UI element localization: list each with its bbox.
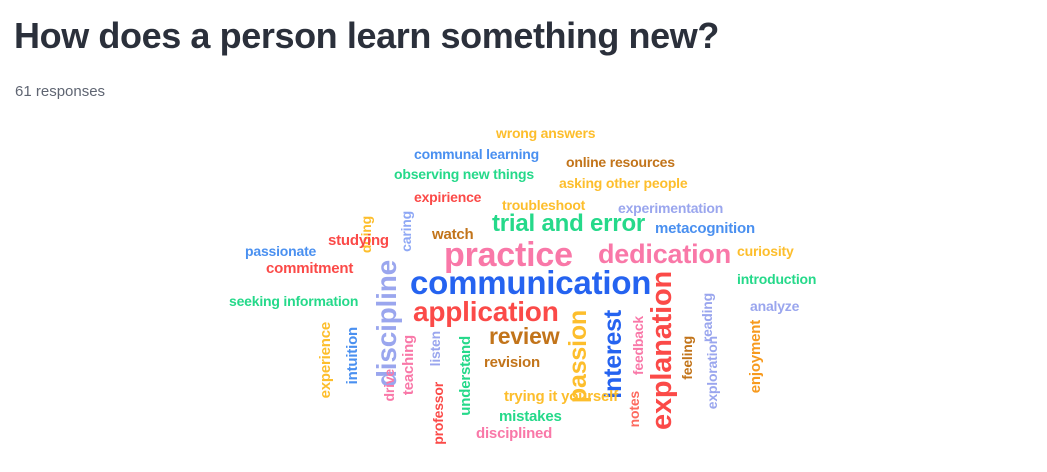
word-cloud-term: mistakes [499,409,562,424]
word-cloud-term: disciplined [476,426,552,441]
word-cloud-term: teaching [401,335,416,395]
word-cloud-term: trial and error [492,212,645,236]
word-cloud-term: introduction [737,272,816,286]
page-title: How does a person learn something new? [14,14,719,58]
word-cloud-term: communication [410,266,651,299]
word-cloud-term: interest [601,310,626,399]
word-cloud-term: exploration [705,336,719,409]
word-cloud-term: curiosity [737,244,794,258]
word-cloud-term: metacognition [655,221,755,236]
word-cloud-term: seeking information [229,294,358,308]
word-cloud-term: expirience [414,190,481,204]
word-cloud-term: drive [382,369,396,401]
word-cloud-term: asking other people [559,176,687,190]
word-cloud-term: feeling [680,336,694,380]
word-cloud-term: enjoyment [748,320,763,393]
word-cloud: wrong answerscommunal learningonline res… [0,108,1047,472]
word-cloud-term: communal learning [414,147,539,161]
word-cloud-term: feedback [631,316,645,375]
word-cloud-term: revision [484,355,540,370]
word-cloud-term: observing new things [394,167,534,181]
word-cloud-term: application [413,298,559,326]
word-cloud-term: reading [700,293,714,342]
word-cloud-term: notes [627,391,641,427]
word-cloud-term: studying [328,233,389,248]
word-cloud-term: explanation [648,271,677,430]
word-cloud-term: listen [428,331,442,366]
word-cloud-term: commitment [266,261,353,276]
response-count-label: 61 responses [15,82,105,102]
word-cloud-term: caring [399,211,413,252]
word-cloud-term: passionate [245,244,316,258]
word-cloud-term: online resources [566,155,675,169]
word-cloud-term: analyze [750,299,799,313]
word-cloud-term: wrong answers [496,126,595,140]
word-cloud-response-summary: How does a person learn something new? 6… [0,0,1047,472]
word-cloud-term: experience [318,322,333,398]
word-cloud-term: intuition [345,327,360,384]
word-cloud-term: trying it yourself [504,389,618,404]
word-cloud-term: understand [458,336,473,416]
word-cloud-term: professor [431,382,445,445]
word-cloud-term: review [489,325,559,348]
